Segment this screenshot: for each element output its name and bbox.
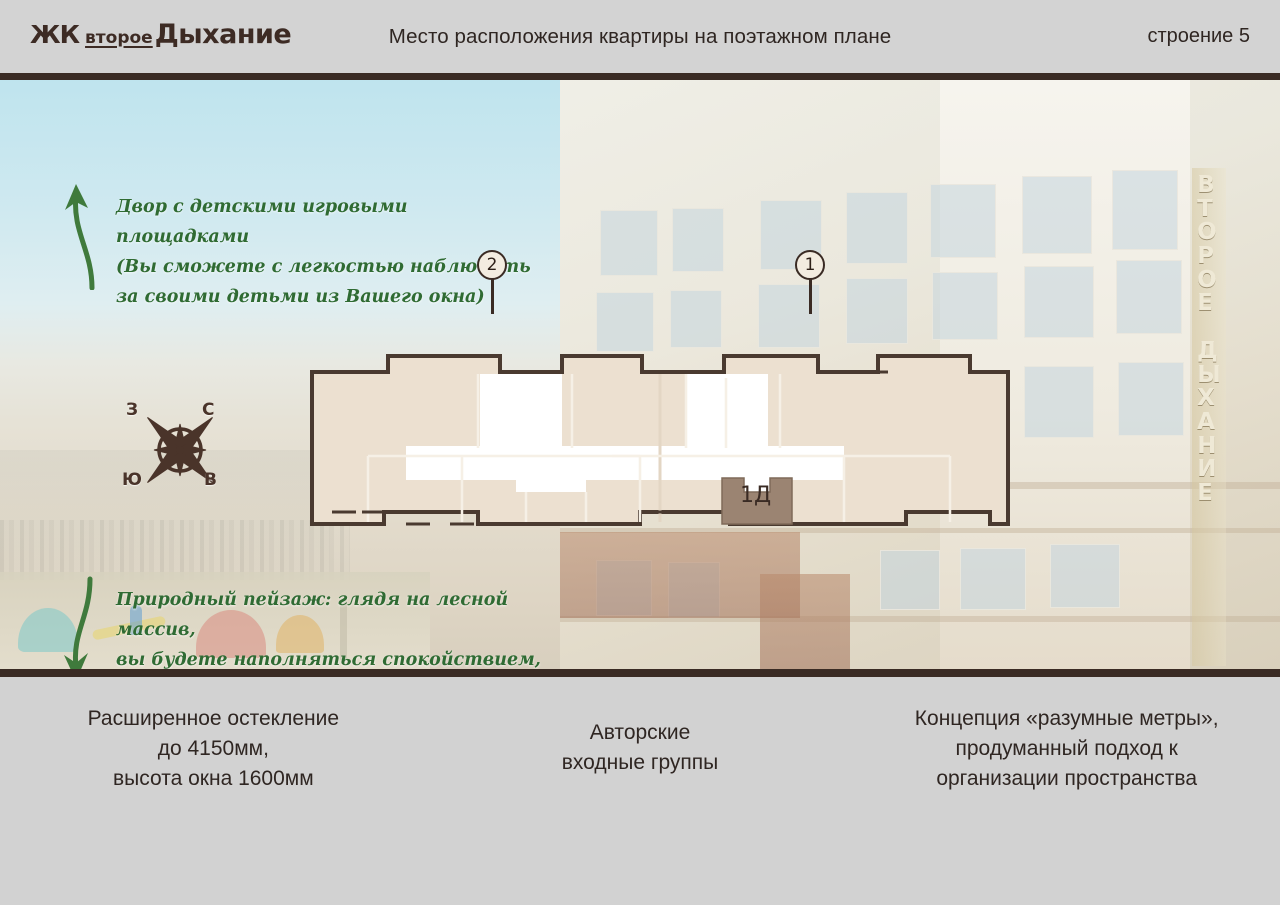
facade-window xyxy=(960,548,1026,610)
plan-stair-void xyxy=(516,478,586,492)
facade-window xyxy=(600,210,658,276)
vertical-sign-letter: Х xyxy=(1197,387,1221,411)
facade-window xyxy=(672,208,724,272)
feature-entrance-line-2: входные группы xyxy=(449,748,832,778)
feature-entrance-groups: Авторские входные группы xyxy=(427,702,854,778)
plan-corridor-void xyxy=(612,446,844,480)
vertical-sign-text: ВТОРОЕ ДЫХАНИЕ xyxy=(1197,174,1221,506)
feature-smart-line-3: организации пространства xyxy=(875,764,1258,794)
floor-plan-drawing xyxy=(310,328,1010,543)
compass-label-west: З xyxy=(126,400,138,420)
vertical-sign-letter: Д xyxy=(1197,340,1221,364)
callout-yard-line-3: за своими детьми из Вашего окна) xyxy=(116,282,546,312)
poster-root: ЖК второе Дыхание Место расположения ква… xyxy=(0,0,1280,905)
arrow-up-icon xyxy=(62,180,108,290)
callout-yard-line-1: Двор с детскими игровыми площадками xyxy=(116,192,546,252)
building-number: строение 5 xyxy=(1147,0,1250,73)
compass-label-east: В xyxy=(204,470,217,490)
plan-corridor-void xyxy=(406,446,636,480)
vertical-sign-letter: А xyxy=(1197,411,1221,435)
callout-nature-line-2: вы будете наполняться спокойствием, xyxy=(116,645,556,669)
features-section: Расширенное остекление до 4150мм, высота… xyxy=(0,677,1280,905)
feature-smart-line-2: продуманный подход к xyxy=(875,734,1258,764)
footer-divider xyxy=(0,669,1280,677)
facade-window xyxy=(1022,176,1092,254)
vertical-sign-letter: Е xyxy=(1197,292,1221,316)
facade-window xyxy=(1050,544,1120,608)
plan-light-well xyxy=(480,374,562,448)
callout-yard: Двор с детскими игровыми площадками (Вы … xyxy=(116,192,546,312)
facade-window xyxy=(1116,260,1182,334)
facade-window xyxy=(1024,266,1094,338)
feature-glazing: Расширенное остекление до 4150мм, высота… xyxy=(0,702,427,793)
entrance-marker-stem-1 xyxy=(809,276,812,314)
vertical-sign-letter: Р xyxy=(1197,245,1221,269)
entrance-marker-2[interactable]: 2 xyxy=(477,250,507,280)
vertical-sign-letter: О xyxy=(1197,221,1221,245)
header-divider xyxy=(0,73,1280,80)
facade-window xyxy=(880,550,940,610)
features-row: Расширенное остекление до 4150мм, высота… xyxy=(0,702,1280,793)
vertical-sign-letter xyxy=(1197,316,1221,340)
vertical-sign-letter: Т xyxy=(1197,198,1221,222)
building-vertical-sign: ВТОРОЕ ДЫХАНИЕ xyxy=(1192,168,1226,666)
facade-window xyxy=(1024,366,1094,438)
vertical-sign-letter: О xyxy=(1197,269,1221,293)
compass-label-north: С xyxy=(202,400,214,420)
callout-nature: Природный пейзаж: глядя на лесной массив… xyxy=(116,585,556,669)
facade-window xyxy=(930,184,996,258)
vertical-sign-letter: И xyxy=(1197,458,1221,482)
feature-glazing-line-2: до 4150мм, xyxy=(22,734,405,764)
header-bar: ЖК второе Дыхание Место расположения ква… xyxy=(0,0,1280,73)
callout-nature-line-1: Природный пейзаж: глядя на лесной массив… xyxy=(116,585,556,645)
entrance-marker-1[interactable]: 1 xyxy=(795,250,825,280)
facade-window xyxy=(846,192,908,264)
feature-glazing-line-3: высота окна 1600мм xyxy=(22,764,405,794)
vertical-sign-letter: Е xyxy=(1197,482,1221,506)
vertical-sign-letter: Н xyxy=(1197,435,1221,459)
feature-entrance-line-1: Авторские xyxy=(449,718,832,748)
facade-window xyxy=(1118,362,1184,436)
photo-plan-area: ВТОРОЕ ДЫХАНИЕ Двор с детскими игровыми … xyxy=(0,80,1280,669)
brick-entrance xyxy=(760,574,850,669)
feature-glazing-line-1: Расширенное остекление xyxy=(22,704,405,734)
floor-plan: 1Д xyxy=(310,328,1010,543)
unit-label-1d: 1Д xyxy=(740,483,771,508)
facade-window xyxy=(1112,170,1178,250)
entrance-marker-stem-2 xyxy=(491,276,494,314)
page-title: Место расположения квартиры на поэтажном… xyxy=(0,0,1280,73)
distant-town xyxy=(0,520,350,580)
vertical-sign-letter: Ы xyxy=(1197,364,1221,388)
vertical-sign-letter: В xyxy=(1197,174,1221,198)
feature-smart-line-1: Концепция «разумные метры», xyxy=(875,704,1258,734)
compass-label-south: Ю xyxy=(122,470,142,490)
arrow-down-icon xyxy=(60,575,106,669)
feature-smart-meters: Концепция «разумные метры», продуманный … xyxy=(853,702,1280,793)
compass-rose: З С Ю В xyxy=(120,398,240,502)
